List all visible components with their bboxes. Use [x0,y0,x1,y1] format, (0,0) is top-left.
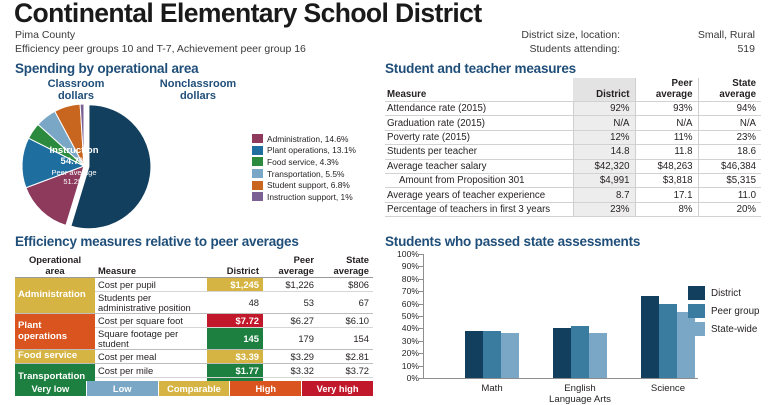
district-value-cell: N/A [573,116,635,130]
bar-legend-item: Peer group [688,302,759,320]
y-axis-tick-label: 0% [385,374,419,382]
bar [553,328,571,378]
table-row: Average teacher salary$42,320$48,263$46,… [385,159,761,173]
scale-segment: Comparable [159,381,231,396]
assessments-heading: Students who passed state assessments [385,234,640,249]
efficiency-measure-cell: Cost per pupil [95,278,207,292]
operational-area-cell: Food service [15,350,95,364]
pie-legend-item: Administration, 14.6% [252,133,356,145]
peer-value-cell: 93% [635,102,698,116]
col-state-line2: average [719,89,756,100]
y-axis-tick-label: 90% [385,262,419,270]
measure-cell: Students per teacher [385,145,573,159]
efficiency-district-cell: 48 [207,292,263,314]
pie-legend-swatch [252,181,263,190]
bar [641,296,659,378]
y-axis-tick [419,279,423,280]
efficiency-scale-legend: Very lowLowComparableHighVery high [15,381,373,396]
measure-line2: administrative position [98,302,191,313]
peer-value-cell: 11.8 [635,145,698,159]
y-axis-tick-label: 60% [385,300,419,308]
efficiency-measure-cell: Cost per square foot [95,314,207,328]
y-axis-tick-label: 100% [385,250,419,258]
efficiency-state-cell: $2.81 [318,350,373,364]
op-area-line2: operations [18,331,67,342]
bar [589,333,607,378]
students-attending-value: 519 [600,43,755,55]
col-eff-peer-line1: Peer [294,254,314,265]
peer-value-cell: $3,818 [635,173,698,187]
x-axis-label-line: Math [481,383,502,394]
plot-area: MathEnglishLanguage ArtsScience [423,254,683,378]
efficiency-district-cell: $1,245 [207,278,263,292]
classroom-dollars-caption: Classroom dollars [24,78,128,102]
y-axis-tick [419,316,423,317]
bar-legend-label: State-wide [711,324,757,335]
district-value-cell: 12% [573,130,635,144]
measure-cell: Poverty rate (2015) [385,130,573,144]
y-axis-tick-label: 40% [385,324,419,332]
state-value-cell: 23% [698,130,761,144]
table-row: Poverty rate (2015)12%11%23% [385,130,761,144]
y-axis-line [423,254,424,378]
op-area-line1: Plant [18,320,41,331]
efficiency-table: Operational area Measure District Peer a… [15,250,373,391]
measure-cell: Attendance rate (2015) [385,102,573,116]
pie-legend-swatch [252,146,263,155]
state-value-cell: 11.0 [698,188,761,202]
district-value-cell: $4,991 [573,173,635,187]
student-teacher-table: Measure District Peer average State aver… [385,78,761,217]
peer-value-cell: N/A [635,116,698,130]
pie-legend-item: Transportation, 5.5% [252,168,356,180]
efficiency-peer-cell: $3.32 [263,364,318,378]
efficiency-district-cell: 145 [207,328,263,350]
y-axis-tick-label: 70% [385,287,419,295]
y-axis-tick-label: 50% [385,312,419,320]
district-value-cell: $42,320 [573,159,635,173]
col-state-average: State average [698,78,761,102]
col-eff-peer-line2: average [279,265,314,276]
col-operational-area: Operational area [15,250,95,278]
table-row: Attendance rate (2015)92%93%94% [385,102,761,116]
efficiency-peer-cell: 179 [263,328,318,350]
county-label: Pima County [15,29,75,41]
pie-legend-item: Food service, 4.3% [252,156,356,168]
pie-legend-item: Instruction support, 1% [252,191,356,203]
peer-value-cell: $48,263 [635,159,698,173]
state-value-cell: 94% [698,102,761,116]
efficiency-peer-cell: 53 [263,292,318,314]
district-size-label: District size, location: [440,29,620,41]
efficiency-row: AdministrationCost per pupil$1,245$1,226… [15,278,373,292]
pie-legend-label: Administration, 14.6% [267,134,348,144]
efficiency-state-cell: $806 [318,278,373,292]
district-value-cell: 14.8 [573,145,635,159]
y-axis-tick [419,291,423,292]
pie-legend: Administration, 14.6%Plant operations, 1… [252,133,356,203]
measure-cell: Percentage of teachers in first 3 years [385,202,573,216]
y-axis-tick [419,341,423,342]
x-axis-label: EnglishLanguage Arts [530,383,630,405]
measure-line2: student [98,338,129,349]
efficiency-district-cell: $7.72 [207,314,263,328]
table-header-row: Measure District Peer average State aver… [385,78,761,102]
col-district: District [573,78,635,102]
students-attending-label: Students attending: [440,43,620,55]
state-value-cell: 20% [698,202,761,216]
pie-legend-label: Student support, 6.8% [267,180,350,190]
x-axis-line [423,378,698,379]
y-axis-tick-label: 20% [385,349,419,357]
table-row: Percentage of teachers in first 3 years2… [385,202,761,216]
col-op-line1: Operational [29,254,81,265]
pie-legend-label: Transportation, 5.5% [267,169,344,179]
peer-value-cell: 17.1 [635,188,698,202]
classroom-caption-line1: Classroom [48,78,105,90]
y-axis-tick-label: 80% [385,275,419,283]
scale-segment: Very high [302,381,373,396]
state-value-cell: $46,384 [698,159,761,173]
col-measure: Measure [385,78,573,102]
operational-area-cell: Administration [15,278,95,314]
pie-legend-item: Plant operations, 13.1% [252,145,356,157]
operational-area-cell: Plantoperations [15,314,95,350]
bar-legend-item: District [688,284,759,302]
peer-value-cell: 8% [635,202,698,216]
pie-legend-label: Food service, 4.3% [267,157,339,167]
page-title: Continental Elementary School District [14,0,482,29]
bar-legend-swatch [688,322,705,336]
y-axis-tick [419,328,423,329]
district-profile-page: Continental Elementary School District P… [0,0,770,400]
bar [659,304,677,378]
district-value-cell: 23% [573,202,635,216]
bar [501,333,519,378]
efficiency-district-cell: $3.39 [207,350,263,364]
student-teacher-heading: Student and teacher measures [385,61,576,76]
col-eff-state: State average [318,250,373,278]
spending-pie-chart: Classroom dollars Nonclassroom dollars I… [6,78,378,230]
bar-chart-legend: DistrictPeer groupState-wide [688,284,759,338]
bar-legend-label: District [711,288,741,299]
pie-svg [14,102,244,230]
assessments-bar-chart: 100%90%80%70%60%50%40%30%20%10%0% MathEn… [385,250,765,400]
efficiency-peer-cell: $3.29 [263,350,318,364]
col-eff-measure: Measure [95,250,207,278]
bar [571,326,589,378]
pie-legend-label: Instruction support, 1% [267,192,353,202]
measure-cell: Graduation rate (2015) [385,116,573,130]
col-state-line1: State [732,78,756,89]
efficiency-state-cell: 67 [318,292,373,314]
y-axis-tick-label: 10% [385,362,419,370]
nonclassroom-caption-line2: dollars [180,90,216,102]
bar-legend-swatch [688,304,705,318]
col-eff-peer: Peer average [263,250,318,278]
pie-legend-label: Plant operations, 13.1% [267,145,356,155]
pie-legend-swatch [252,157,263,166]
measure-cell: Average teacher salary [385,159,573,173]
x-axis-label: Math [442,383,542,394]
scale-segment: Very low [15,381,87,396]
efficiency-measure-cell: Students peradministrative position [95,292,207,314]
table-row: Average years of teacher experience8.717… [385,188,761,202]
bar [465,331,483,378]
pie-legend-item: Student support, 6.8% [252,179,356,191]
state-value-cell: 18.6 [698,145,761,159]
x-axis-label: Science [618,383,718,394]
pie-legend-swatch [252,169,263,178]
y-axis-tick-label: 30% [385,337,419,345]
classroom-caption-line2: dollars [58,90,94,102]
efficiency-state-cell: 154 [318,328,373,350]
col-peer-line1: Peer [671,78,692,89]
nonclassroom-caption-line1: Nonclassroom [160,78,236,90]
district-value-cell: 92% [573,102,635,116]
y-axis-tick [419,304,423,305]
efficiency-row: PlantoperationsCost per square foot$7.72… [15,314,373,328]
table-row: Students per teacher14.811.818.6 [385,145,761,159]
pie-legend-swatch [252,134,263,143]
table-row: Graduation rate (2015)N/AN/AN/A [385,116,761,130]
efficiency-district-cell: $1.77 [207,364,263,378]
y-axis-tick [419,266,423,267]
efficiency-measure-cell: Square footage perstudent [95,328,207,350]
bar [483,331,501,378]
x-axis-label-line: English [564,383,595,394]
efficiency-measure-cell: Cost per meal [95,350,207,364]
scale-segment: Low [87,381,159,396]
efficiency-peer-cell: $6.27 [263,314,318,328]
bar-group [553,254,607,378]
efficiency-peer-cell: $1,226 [263,278,318,292]
col-peer-average: Peer average [635,78,698,102]
bar-legend-label: Peer group [711,306,759,317]
y-axis-tick [419,254,423,255]
efficiency-row: TransportationCost per mile$1.77$3.32$3.… [15,364,373,378]
col-peer-line2: average [656,89,693,100]
nonclassroom-dollars-caption: Nonclassroom dollars [138,78,258,102]
col-eff-state-line1: State [346,254,369,265]
state-value-cell: N/A [698,116,761,130]
district-size-value: Small, Rural [600,29,755,41]
x-axis-label-line: Science [651,383,685,394]
y-axis-tick [419,353,423,354]
bar-legend-item: State-wide [688,320,759,338]
bar-group [465,254,519,378]
efficiency-row: Food serviceCost per meal$3.39$3.29$2.81 [15,350,373,364]
spending-heading: Spending by operational area [15,61,198,76]
efficiency-heading: Efficiency measures relative to peer ave… [15,234,299,249]
col-eff-state-line2: average [334,265,369,276]
y-axis-tick [419,378,423,379]
measure-cell: Average years of teacher experience [385,188,573,202]
efficiency-measure-cell: Cost per mile [95,364,207,378]
bar-group [641,254,695,378]
table-row: Amount from Proposition 301$4,991$3,818$… [385,173,761,187]
col-op-line2: area [45,265,64,276]
y-axis-tick [419,366,423,367]
peer-groups-label: Efficiency peer groups 10 and T-7, Achie… [15,43,306,55]
state-value-cell: $5,315 [698,173,761,187]
measure-cell: Amount from Proposition 301 [385,173,573,187]
efficiency-state-cell: $6.10 [318,314,373,328]
district-value-cell: 8.7 [573,188,635,202]
efficiency-state-cell: $3.72 [318,364,373,378]
pie-legend-swatch [252,192,263,201]
bar-legend-swatch [688,286,705,300]
peer-value-cell: 11% [635,130,698,144]
col-eff-district: District [207,250,263,278]
efficiency-header-row: Operational area Measure District Peer a… [15,250,373,278]
scale-segment: High [230,381,302,396]
